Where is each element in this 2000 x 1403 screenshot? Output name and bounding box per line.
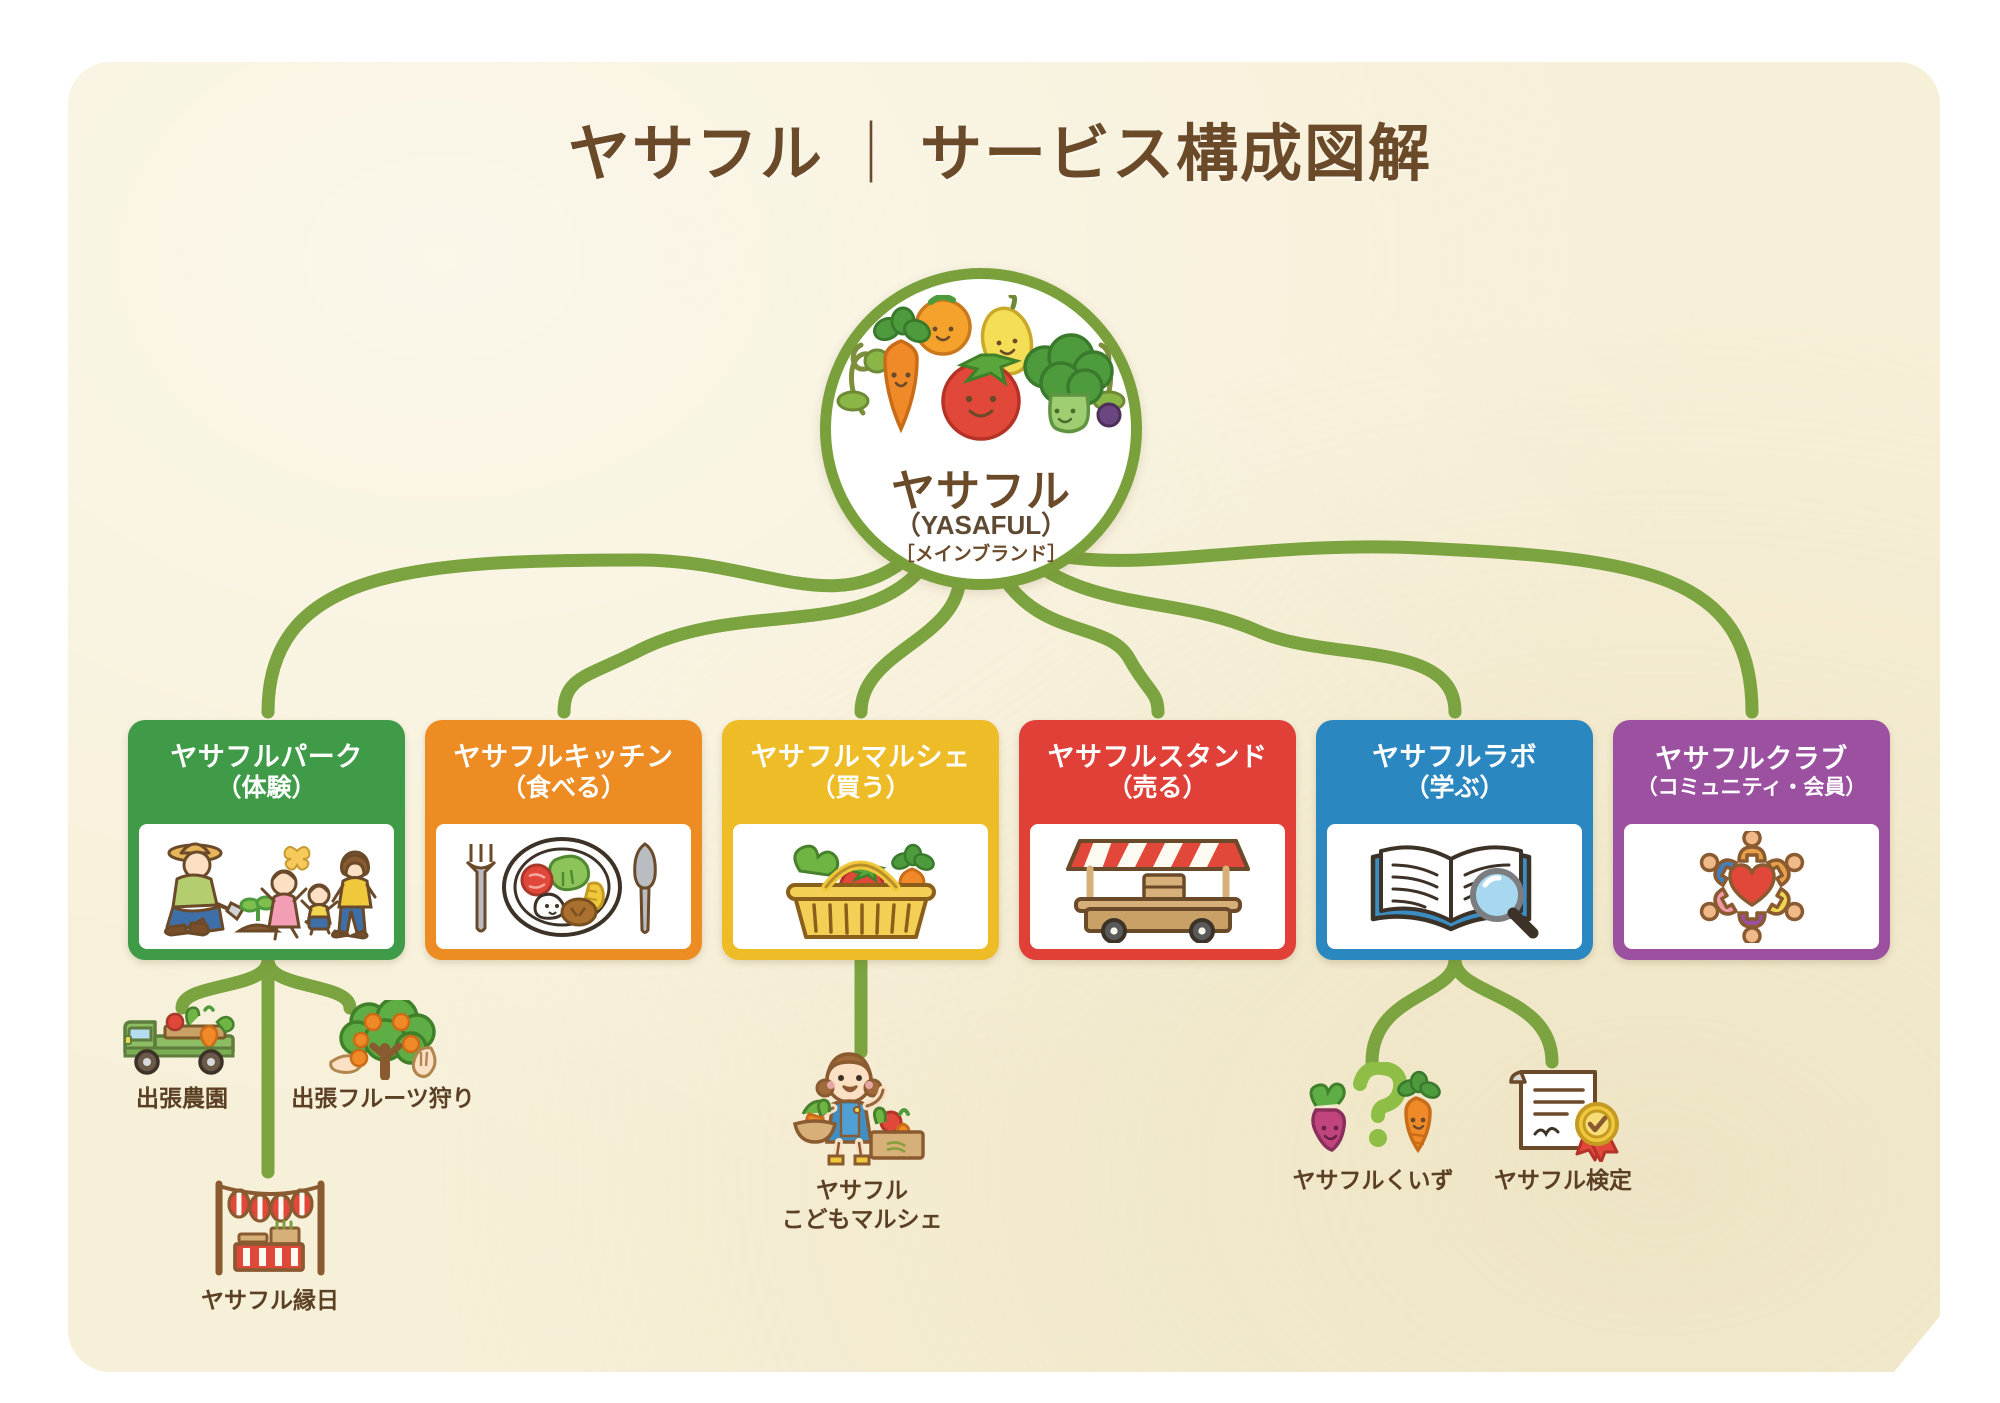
card-header-lab: ヤサフルラボ （学ぶ） [1316,720,1593,824]
card-subtitle-club: （コミュニティ・会員） [1637,776,1867,800]
leaf-node-farm-visit[interactable]: 出張農園 [92,1000,272,1113]
leaf-label-farm-visit: 出張農園 [92,1084,272,1113]
card-illustration-kitchen [436,824,691,949]
card-header-marche: ヤサフルマルシェ （買う） [722,720,999,824]
leaf-label-quiz: ヤサフルくいず [1278,1166,1468,1195]
card-subtitle-lab: （学ぶ） [1404,774,1504,802]
card-illustration-stand [1030,824,1285,949]
wire-lab-kentei [1455,960,1552,1062]
people-circle-heart-icon [1682,831,1822,943]
card-header-stand: ヤサフルスタンド （売る） [1019,720,1296,824]
card-title-marche: ヤサフルマルシェ [751,742,971,772]
market-stall-cart-icon [1058,831,1258,943]
leaf-node-quiz[interactable]: ヤサフルくいず [1278,1062,1468,1195]
logo-brand-english: （YASAFUL） [831,505,1131,542]
card-title-lab: ヤサフルラボ [1372,742,1537,772]
card-title-kitchen: ヤサフルキッチン [454,742,674,772]
leaf-label-certification: ヤサフル検定 [1468,1166,1658,1195]
card-illustration-park [139,824,394,949]
open-book-magnifier-icon [1355,831,1555,943]
card-subtitle-stand: （売る） [1107,774,1207,802]
card-illustration-club [1624,824,1879,949]
festival-stall-icon [160,1170,380,1282]
leaf-label-ennichi: ヤサフル縁日 [160,1286,380,1315]
service-card-lab[interactable]: ヤサフルラボ （学ぶ） [1316,720,1593,960]
plate-cutlery-icon [449,832,679,942]
leaf-label-kids-marche: ヤサフル こどもマルシェ [752,1176,972,1234]
service-card-club[interactable]: ヤサフルクラブ （コミュニティ・会員） [1613,720,1890,960]
girl-with-vegetables-icon [752,1052,972,1172]
card-illustration-lab [1327,824,1582,949]
service-card-stand[interactable]: ヤサフルスタンド （売る） [1019,720,1296,960]
vegetable-quiz-icon [1278,1062,1468,1162]
card-illustration-marche [733,824,988,949]
card-title-park: ヤサフルパーク [170,742,363,772]
card-header-kitchen: ヤサフルキッチン （食べる） [425,720,702,824]
card-subtitle-kitchen: （食べる） [501,774,626,802]
fruit-tree-hands-icon [268,1000,498,1080]
leaf-node-certification[interactable]: ヤサフル検定 [1468,1062,1658,1195]
wire-logo-park [268,560,905,712]
card-title-club: ヤサフルクラブ [1655,744,1848,774]
wire-lab-quiz [1372,960,1455,1062]
certificate-medal-icon [1468,1062,1658,1162]
shopping-basket-icon [766,831,956,943]
logo-vegetable-characters [831,295,1131,445]
card-header-park: ヤサフルパーク （体験） [128,720,405,824]
green-truck-icon [92,1000,272,1080]
logo-brand-tag: ［メインブランド］ [831,539,1131,566]
service-card-marche[interactable]: ヤサフルマルシェ （買う） [722,720,999,960]
leaf-node-kids-marche[interactable]: ヤサフル こどもマルシェ [752,1052,972,1234]
diagram-stage: ヤサフル｜サービス構成図解 [0,0,2000,1403]
card-header-club: ヤサフルクラブ （コミュニティ・会員） [1613,720,1890,824]
card-subtitle-marche: （買う） [810,774,910,802]
service-card-park[interactable]: ヤサフルパーク （体験） [128,720,405,960]
main-brand-logo[interactable]: ヤサフル （YASAFUL） ［メインブランド］ [820,268,1142,590]
leaf-node-ennichi[interactable]: ヤサフル縁日 [160,1170,380,1315]
card-subtitle-park: （体験） [216,774,316,802]
card-title-stand: ヤサフルスタンド [1048,742,1268,772]
service-card-kitchen[interactable]: ヤサフルキッチン （食べる） [425,720,702,960]
leaf-node-fruit-picking[interactable]: 出張フルーツ狩り [268,1000,498,1113]
leaf-label-fruit-picking: 出張フルーツ狩り [268,1084,498,1113]
family-farming-icon [147,831,387,943]
blueberry-icon [1098,404,1120,426]
